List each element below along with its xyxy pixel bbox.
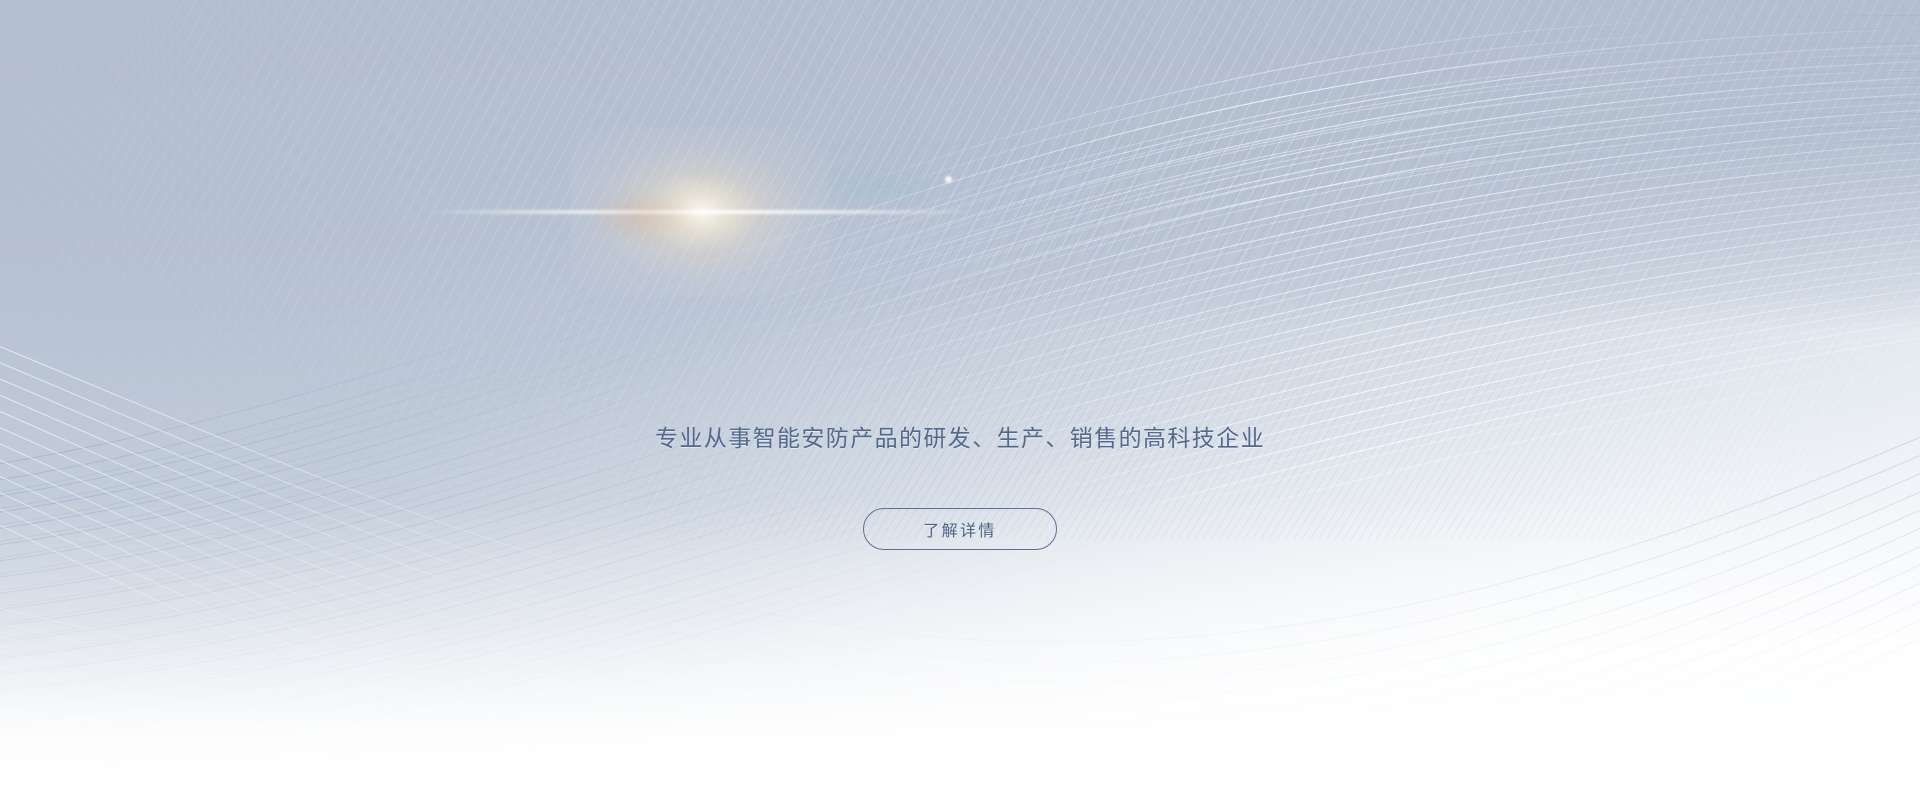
hero-banner: 以智能视觉处理技术为核心 专业从事智能安防产品的研发、生产、销售的高科技企业 了… [0, 0, 1920, 800]
learn-more-button[interactable]: 了解详情 [863, 508, 1057, 550]
